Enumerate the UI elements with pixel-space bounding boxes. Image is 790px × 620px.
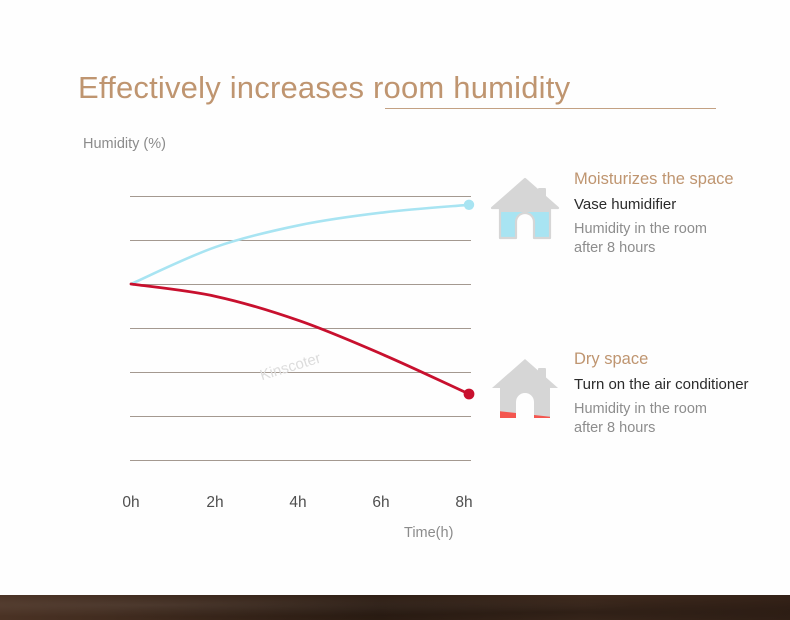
- info-panel-dry-space: Dry space Turn on the air conditioner Hu…: [488, 348, 788, 458]
- humid-curve-path: [131, 205, 469, 284]
- humid-endpoint-marker: [464, 200, 474, 210]
- plot-curves: [0, 0, 500, 560]
- info-panel-moisturizes: Moisturizes the space Vase humidifier Hu…: [488, 168, 788, 278]
- panel-heading: Moisturizes the space: [574, 168, 786, 190]
- humidity-chart: Humidity (%) Time(h) 70% 60% 50% 40% 30%…: [0, 0, 500, 560]
- panel-subtitle: Turn on the air conditioner: [574, 373, 786, 397]
- panel-description: Humidity in the room after 8 hours: [574, 400, 786, 438]
- dry-curve-path: [131, 284, 469, 394]
- panel-heading: Dry space: [574, 348, 786, 370]
- dry-endpoint-marker: [464, 389, 475, 400]
- bottom-decorative-band: [0, 595, 790, 620]
- panel-description: Humidity in the room after 8 hours: [574, 220, 786, 258]
- house-humid-icon: [488, 172, 562, 246]
- panel-text-dry-space: Dry space Turn on the air conditioner Hu…: [574, 348, 786, 438]
- panel-text-moisturizes: Moisturizes the space Vase humidifier Hu…: [574, 168, 786, 258]
- panel-subtitle: Vase humidifier: [574, 193, 786, 217]
- infographic-page: Effectively increases room humidity Humi…: [0, 0, 790, 620]
- house-dry-icon: [488, 352, 562, 426]
